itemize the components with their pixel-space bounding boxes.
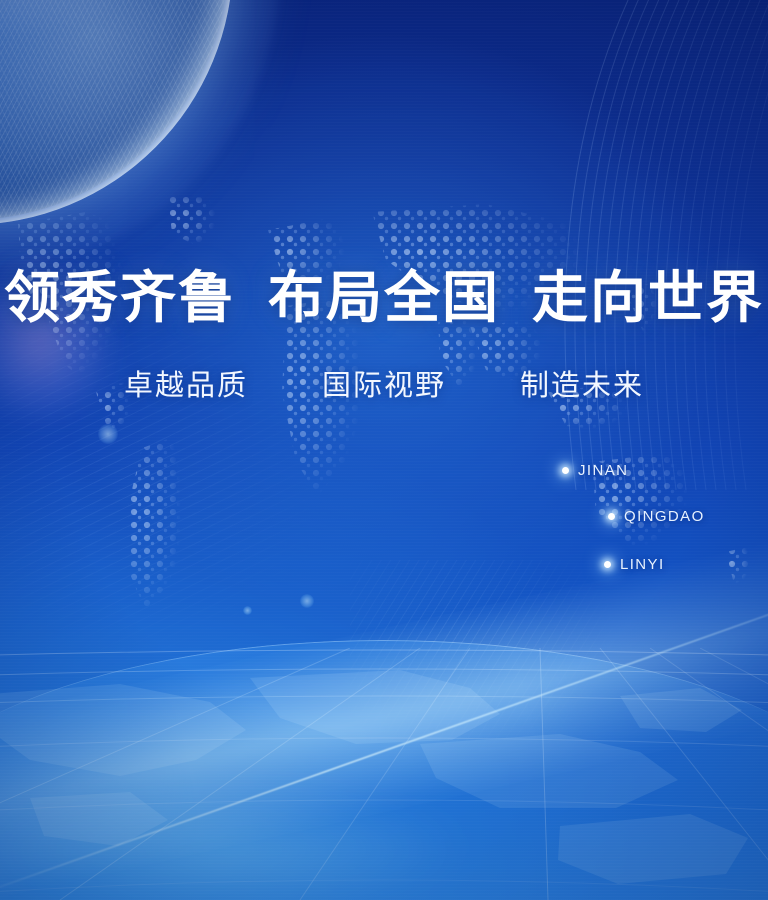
city-label: QINGDAO [624,508,705,525]
bokeh-dot [243,606,252,615]
page-title: 领秀齐鲁 布局全国 走向世界 [0,268,768,330]
bokeh-dot [300,594,314,608]
city-marker-qingdao: QINGDAO [608,508,705,525]
city-dot-marker-icon [604,561,611,568]
city-label: LINYI [620,556,665,573]
bokeh-dot [98,424,118,444]
city-dot-marker-icon [608,513,615,520]
city-marker-jinan: JINAN [562,462,628,479]
city-marker-linyi: LINYI [604,556,665,573]
bottom-glow [0,760,500,900]
hero-banner: 领秀齐鲁 布局全国 走向世界 卓越品质 国际视野 制造未来 JINAN QING… [0,0,768,900]
globe-limb-glow [0,0,233,225]
globe-icon [0,0,228,220]
city-label: JINAN [578,462,628,479]
banner-subtitle: 卓越品质 国际视野 制造未来 [0,368,768,404]
city-dot-marker-icon [562,467,569,474]
